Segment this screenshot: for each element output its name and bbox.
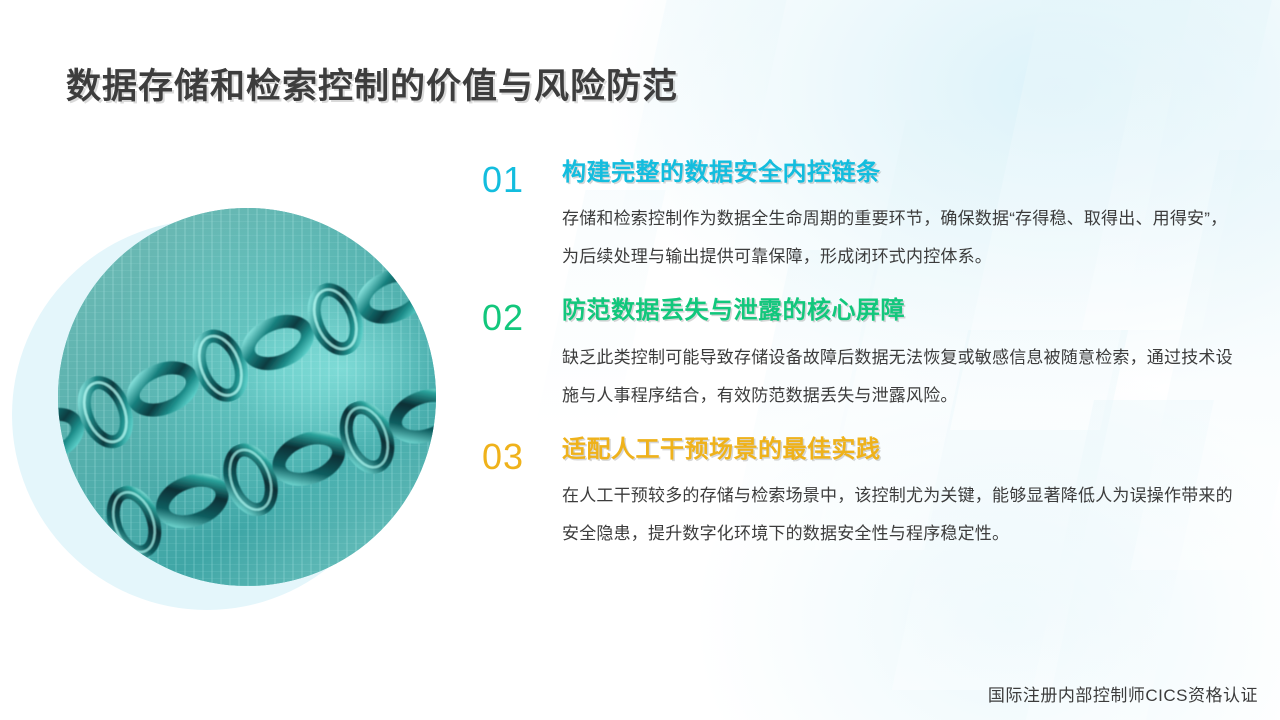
item-body: 防范数据丢失与泄露的核心屏障 缺乏此类控制可能导致存储设备故障后数据无法恢复或敏… bbox=[562, 298, 1242, 414]
list-item: 02 防范数据丢失与泄露的核心屏障 缺乏此类控制可能导致存储设备故障后数据无法恢… bbox=[482, 298, 1242, 414]
item-paragraph-02: 缺乏此类控制可能导致存储设备故障后数据无法恢复或敏感信息被随意检索，通过技术设施… bbox=[562, 339, 1240, 415]
item-heading-03: 适配人工干预场景的最佳实践 bbox=[562, 437, 1242, 463]
page-title: 数据存储和检索控制的价值与风险防范 bbox=[66, 58, 678, 109]
slide-root: 数据存储和检索控制的价值与风险防范 bbox=[0, 0, 1280, 720]
item-body: 构建完整的数据安全内控链条 存储和检索控制作为数据全生命周期的重要环节，确保数据… bbox=[562, 160, 1242, 276]
hero-image-group bbox=[0, 180, 470, 600]
item-number-01: 01 bbox=[482, 162, 524, 198]
chain-illustration bbox=[58, 208, 436, 586]
item-number-02: 02 bbox=[482, 300, 524, 336]
chain-links-digital-circle bbox=[58, 208, 436, 586]
item-paragraph-03: 在人工干预较多的存储与检索场景中，该控制尤为关键，能够显著降低人为误操作带来的安… bbox=[562, 477, 1240, 553]
item-heading-01: 构建完整的数据安全内控链条 bbox=[562, 160, 1242, 186]
item-number-03: 03 bbox=[482, 439, 524, 475]
list-item: 01 构建完整的数据安全内控链条 存储和检索控制作为数据全生命周期的重要环节，确… bbox=[482, 160, 1242, 276]
item-body: 适配人工干预场景的最佳实践 在人工干预较多的存储与检索场景中，该控制尤为关键，能… bbox=[562, 437, 1242, 553]
list-item: 03 适配人工干预场景的最佳实践 在人工干预较多的存储与检索场景中，该控制尤为关… bbox=[482, 437, 1242, 553]
content-list: 01 构建完整的数据安全内控链条 存储和检索控制作为数据全生命周期的重要环节，确… bbox=[482, 160, 1242, 575]
item-heading-02: 防范数据丢失与泄露的核心屏障 bbox=[562, 298, 1242, 324]
footer-certification-label: 国际注册内部控制师CICS资格认证 bbox=[988, 681, 1258, 706]
item-paragraph-01: 存储和检索控制作为数据全生命周期的重要环节，确保数据“存得稳、取得出、用得安”，… bbox=[562, 200, 1240, 276]
